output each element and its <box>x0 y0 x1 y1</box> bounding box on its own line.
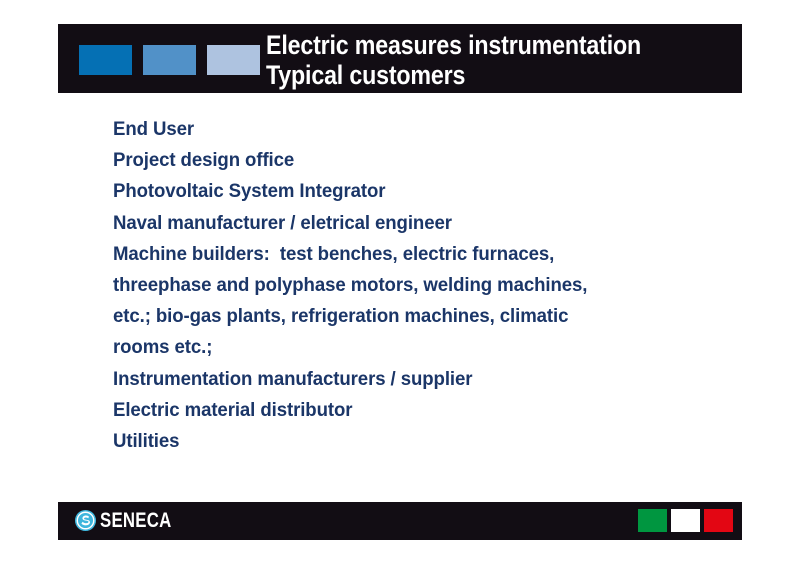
seneca-logo: SENECA <box>74 509 189 532</box>
swatch-dark-blue <box>79 45 132 75</box>
list-item: End User <box>113 114 696 145</box>
header-bar: Electric measures instrumentation Typica… <box>58 24 742 93</box>
list-item: etc.; bio-gas plants, refrigeration mach… <box>113 301 696 332</box>
slide-canvas: Electric measures instrumentation Typica… <box>0 0 800 565</box>
page-title-line-2: Typical customers <box>266 60 668 90</box>
footer-bar: SENECA <box>58 502 742 540</box>
list-item: rooms etc.; <box>113 332 696 363</box>
customer-list: End User Project design office Photovolt… <box>113 114 723 457</box>
list-item: Utilities <box>113 426 696 457</box>
seneca-circle-s-logo-icon <box>74 509 97 532</box>
list-item: Electric material distributor <box>113 395 696 426</box>
flag-band-white <box>671 509 700 532</box>
seneca-logo-text: SENECA <box>100 510 171 531</box>
list-item: Project design office <box>113 145 696 176</box>
list-item: Machine builders: test benches, electric… <box>113 239 696 270</box>
flag-band-red <box>704 509 733 532</box>
swatch-medium-blue <box>143 45 196 75</box>
list-item: Photovoltaic System Integrator <box>113 176 696 207</box>
swatch-group <box>79 45 260 75</box>
swatch-light-blue <box>207 45 260 75</box>
italian-flag <box>638 509 733 532</box>
flag-band-green <box>638 509 667 532</box>
list-item: Naval manufacturer / eletrical engineer <box>113 208 696 239</box>
page-title-line-1: Electric measures instrumentation <box>266 30 668 60</box>
page-title: Electric measures instrumentation Typica… <box>266 26 734 93</box>
list-item: Instrumentation manufacturers / supplier <box>113 364 696 395</box>
list-item: threephase and polyphase motors, welding… <box>113 270 696 301</box>
